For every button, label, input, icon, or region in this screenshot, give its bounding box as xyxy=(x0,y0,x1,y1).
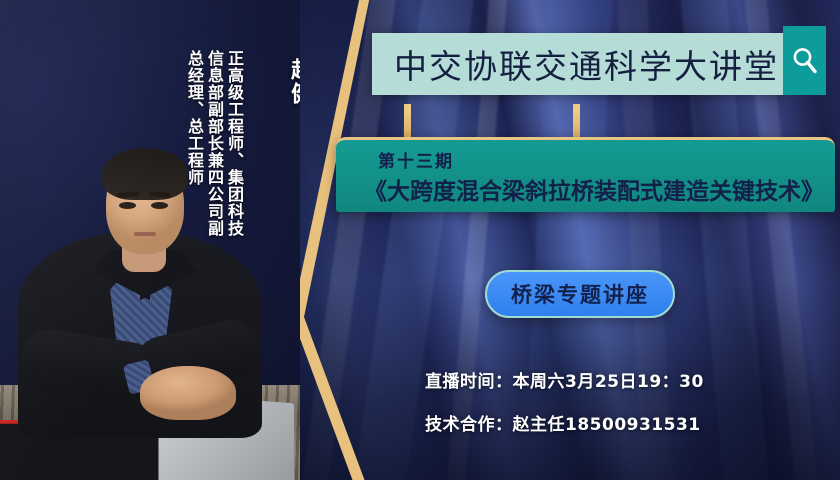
dress-shirt xyxy=(110,258,172,380)
shirt-cuff xyxy=(123,359,155,394)
eyebrow-right xyxy=(149,191,171,198)
eyebrow-left xyxy=(117,191,139,198)
contact-line: 技术合作：赵主任18500931531 xyxy=(425,410,701,435)
credential-column-1: 正高级工程师、集团科技 xyxy=(222,50,242,320)
hair xyxy=(102,148,188,200)
poster-root: 正高级工程师、集团科技 信息部副部长兼四公司副 总经理、总工程师 赵健 中交协联… xyxy=(0,0,840,480)
suit-lapel-left xyxy=(94,250,150,320)
subtitle-banner: 第十三期 《大跨度混合梁斜拉桥装配式建造关键技术》 xyxy=(336,137,835,212)
head xyxy=(106,156,184,254)
search-icon xyxy=(791,46,819,76)
category-pill-label: 桥梁专题讲座 xyxy=(511,279,649,309)
eye-right xyxy=(151,202,168,209)
topic-title: 《大跨度混合梁斜拉桥装配式建造关键技术》 xyxy=(364,172,824,206)
category-pill[interactable]: 桥梁专题讲座 xyxy=(485,270,675,318)
neck xyxy=(122,226,166,272)
page-title: 中交协联交通科学大讲堂 xyxy=(372,40,779,88)
desk xyxy=(0,385,300,480)
mouth xyxy=(134,232,156,236)
speaker-credentials: 正高级工程师、集团科技 信息部副部长兼四公司副 总经理、总工程师 xyxy=(182,50,242,320)
episode-label: 第十三期 xyxy=(378,147,454,172)
mousepad xyxy=(0,420,300,480)
arm-left xyxy=(16,325,164,406)
speaker-photo xyxy=(0,130,300,480)
clasped-hands xyxy=(140,366,236,420)
broadcast-time-line: 直播时间：本周六3月25日19：30 xyxy=(425,367,704,392)
person-figure xyxy=(22,130,252,430)
left-panel: 正高级工程师、集团科技 信息部副部长兼四公司副 总经理、总工程师 赵健 xyxy=(0,0,300,480)
title-banner: 中交协联交通科学大讲堂 xyxy=(372,33,783,95)
suit-torso xyxy=(18,230,262,438)
eye-left xyxy=(119,202,136,209)
arm-right xyxy=(129,314,267,399)
search-button[interactable] xyxy=(783,26,826,95)
suit-lapel-right xyxy=(140,250,196,320)
credential-column-2: 信息部副部长兼四公司副 xyxy=(202,50,222,320)
credential-column-3: 总经理、总工程师 xyxy=(182,50,202,320)
laptop-screen xyxy=(158,394,294,480)
